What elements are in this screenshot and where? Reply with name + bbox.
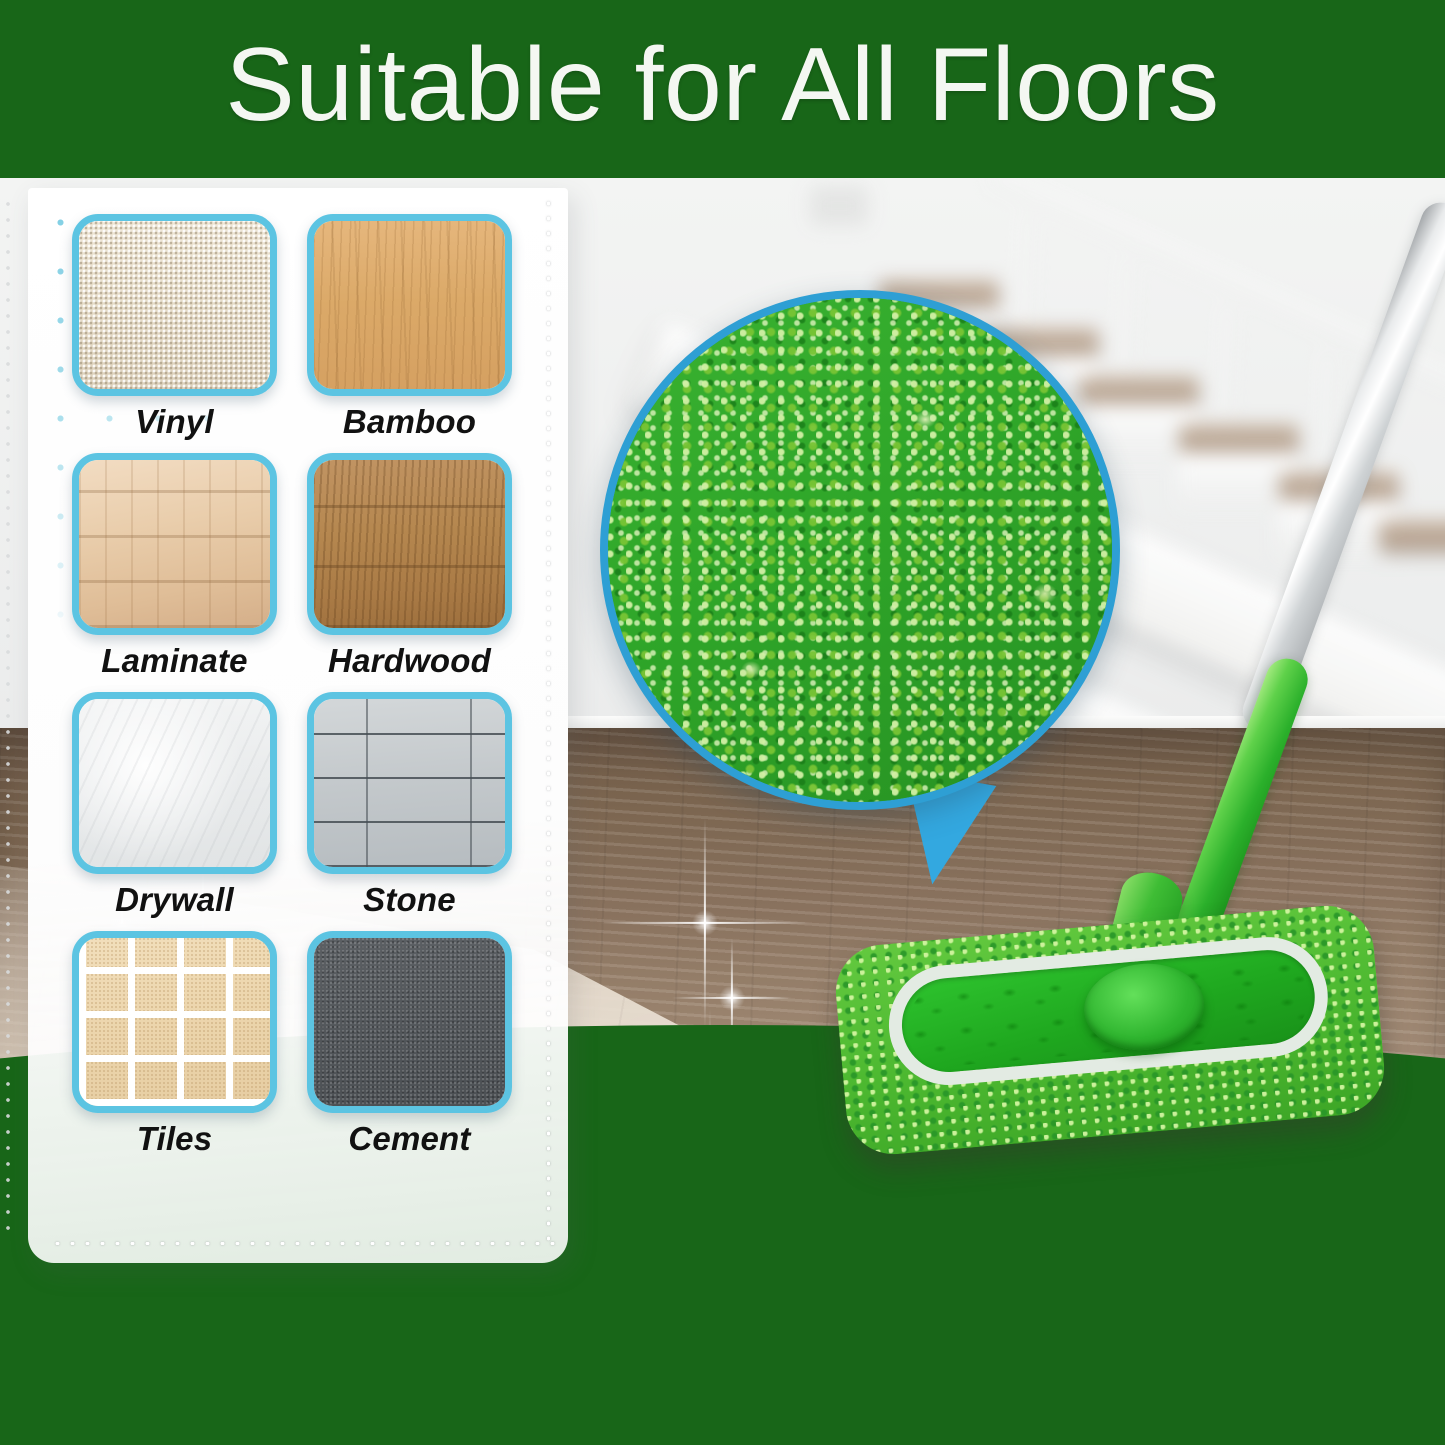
floor-type-item[interactable]: Drywall (72, 692, 277, 919)
floor-type-item[interactable]: Tiles (72, 931, 277, 1158)
floor-label-bamboo: Bamboo (307, 403, 512, 441)
microfiber-closeup-texture (600, 290, 1120, 810)
floor-type-item[interactable]: Vinyl (72, 214, 277, 441)
stair-step (1280, 472, 1398, 502)
floor-label-hardwood: Hardwood (307, 642, 512, 680)
floor-type-item[interactable]: Stone (307, 692, 512, 919)
floor-swatch-hardwood[interactable] (307, 453, 512, 635)
floor-types-panel: Vinyl Bamboo Laminate Hardwood Drywall S (28, 188, 568, 1263)
floor-label-stone: Stone (307, 881, 512, 919)
microfiber-zoom-circle (600, 290, 1120, 810)
floor-label-laminate: Laminate (72, 642, 277, 680)
panel-dotted-border-bottom (50, 1242, 560, 1245)
ceiling-vent-icon (810, 186, 868, 226)
floor-type-item[interactable]: Laminate (72, 453, 277, 680)
floor-type-item[interactable]: Bamboo (307, 214, 512, 441)
bottom-green-fill (0, 1285, 1445, 1445)
floor-label-cement: Cement (307, 1120, 512, 1158)
floor-swatch-bamboo[interactable] (307, 214, 512, 396)
panel-edge-dot-strip (6, 196, 10, 1236)
floor-swatch-cement[interactable] (307, 931, 512, 1113)
stair-step (1180, 424, 1298, 454)
floor-swatch-drywall[interactable] (72, 692, 277, 874)
stair-step (1380, 520, 1445, 550)
panel-dotted-border-right (547, 196, 550, 1242)
floor-swatch-laminate[interactable] (72, 453, 277, 635)
floor-label-drywall: Drywall (72, 881, 277, 919)
floor-label-tiles: Tiles (72, 1120, 277, 1158)
floor-label-vinyl: Vinyl (72, 403, 277, 441)
floor-type-item[interactable]: Hardwood (307, 453, 512, 680)
floor-swatch-tiles[interactable] (72, 931, 277, 1113)
floor-swatch-stone[interactable] (307, 692, 512, 874)
floor-type-item[interactable]: Cement (307, 931, 512, 1158)
page-title: Suitable for All Floors (225, 33, 1219, 137)
infographic-canvas: Vinyl Bamboo Laminate Hardwood Drywall S (0, 0, 1445, 1445)
floor-swatch-vinyl[interactable] (72, 214, 277, 396)
header-banner: Suitable for All Floors (0, 0, 1445, 178)
floor-types-grid: Vinyl Bamboo Laminate Hardwood Drywall S (72, 214, 512, 1158)
